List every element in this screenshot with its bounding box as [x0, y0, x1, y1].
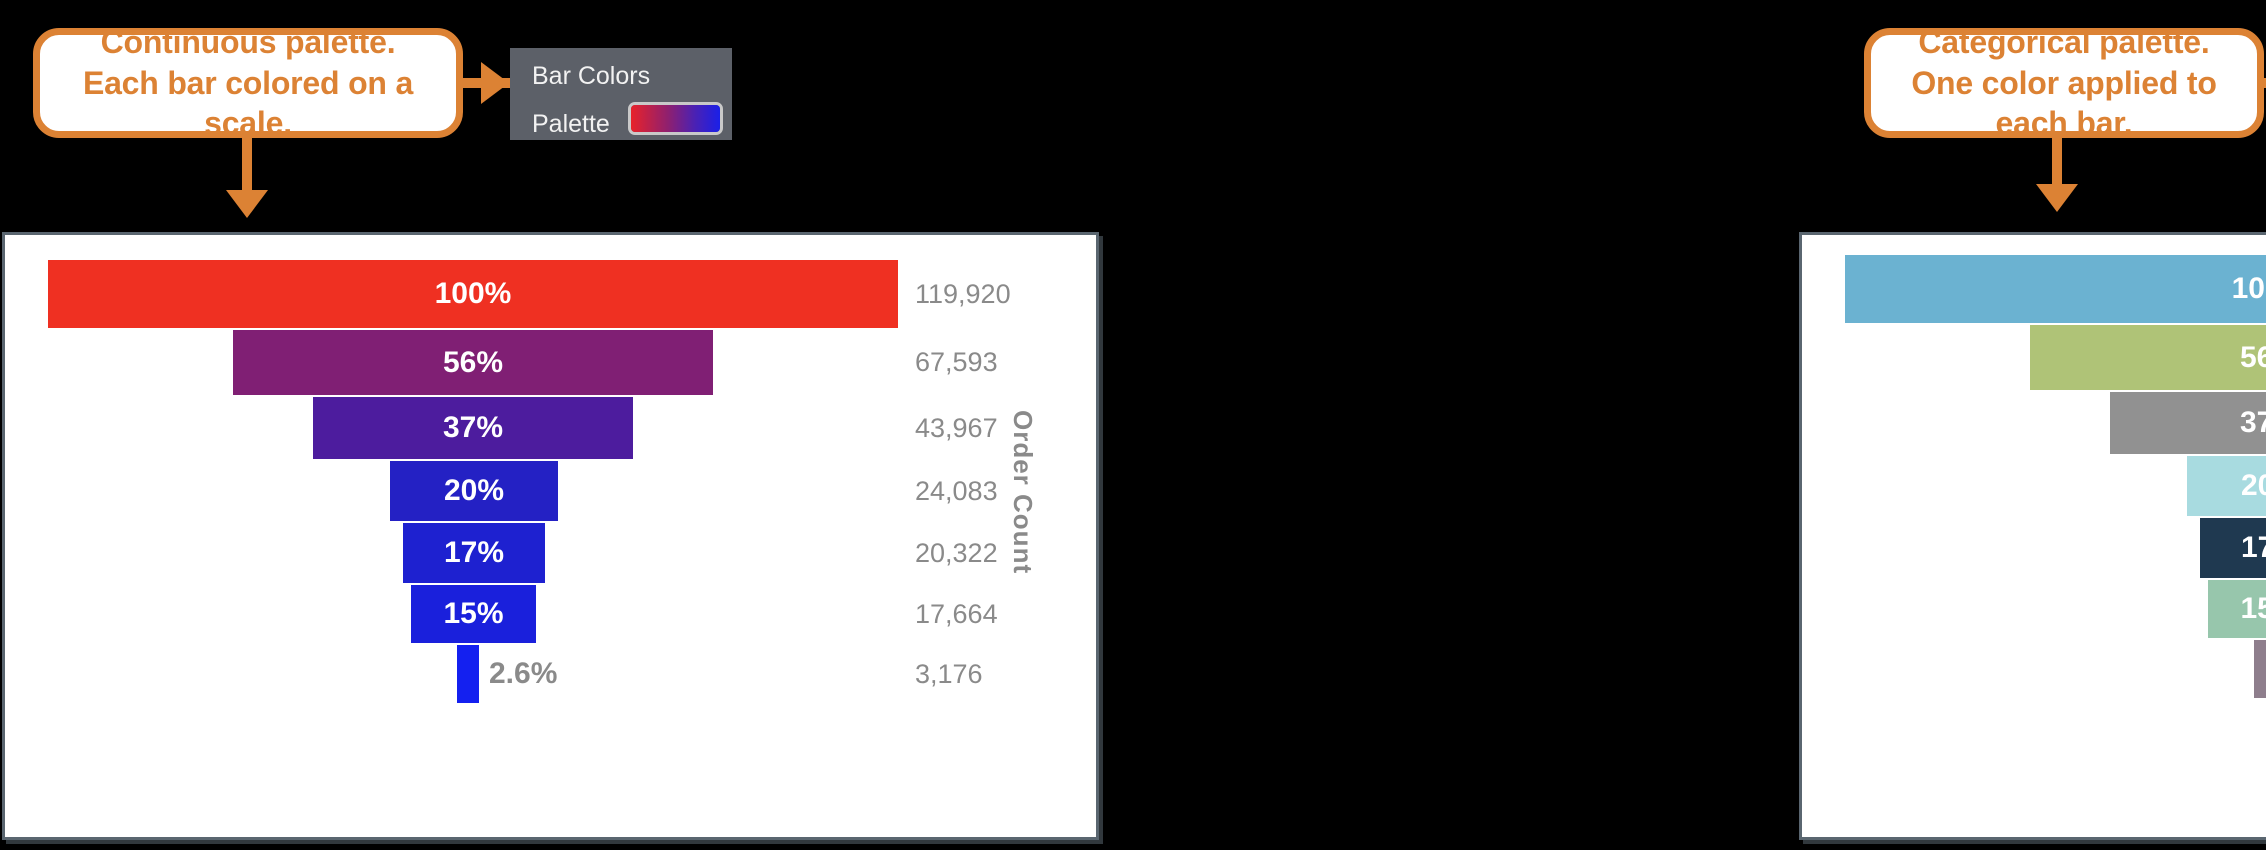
funnel-bar[interactable]: 15% [411, 585, 536, 643]
funnel-bar[interactable]: 17% [403, 523, 545, 583]
funnel-bar[interactable]: 15% [2208, 580, 2266, 638]
funnel-bar[interactable]: 56% [2030, 325, 2266, 390]
bar-row: 17% 20,322 [1802, 518, 2266, 578]
funnel-bar[interactable]: 37% [2110, 392, 2266, 454]
bar-row: 37% 43,967 [5, 397, 1096, 459]
bar-percent-label: 37% [2240, 406, 2266, 440]
right-funnel-chart: 100% 119,920 56% 67,593 37% 43,967 20% [1802, 235, 2266, 837]
right-callout-bubble: Categorical palette. One color applied t… [1864, 28, 2264, 138]
right-down-connector-stem [2052, 138, 2062, 190]
bar-row: 100% 119,920 [1802, 255, 2266, 323]
bar-row: 37% 43,967 [1802, 392, 2266, 454]
continuous-gradient-swatch [631, 105, 720, 132]
bar-percent-label: 100% [2232, 272, 2266, 306]
bar-percent-label: 37% [443, 411, 503, 445]
bar-percent-label: 20% [444, 474, 504, 508]
bar-percent-label: 100% [435, 277, 512, 311]
left-connector-arrowhead [481, 62, 509, 104]
bar-row: 56% 67,593 [1802, 325, 2266, 390]
left-panel-title: Bar Colors [532, 62, 650, 91]
funnel-bar[interactable]: 100% [1845, 255, 2266, 323]
bar-count-label: 3,176 [915, 659, 983, 690]
bar-percent-label: 2.6% [489, 657, 557, 691]
left-callout-bubble: Continuous palette. Each bar colored on … [33, 28, 463, 138]
bar-percent-label: 17% [2241, 531, 2266, 565]
bar-row: 15% 17,664 [1802, 580, 2266, 638]
bar-percent-label: 56% [2240, 341, 2266, 375]
left-callout-text: Continuous palette. Each bar colored on … [60, 22, 436, 145]
funnel-bar[interactable]: 56% [233, 330, 713, 395]
bar-row: 17% 20,322 [5, 523, 1096, 583]
bar-count-label: 20,322 [915, 538, 998, 569]
funnel-bar[interactable]: 2.6% [457, 645, 479, 703]
left-chart-card: 100% 119,920 56% 67,593 37% 43,967 20% [2, 232, 1099, 840]
funnel-bar[interactable]: 100% [48, 260, 898, 328]
left-down-connector-stem [242, 138, 252, 196]
bar-percent-label: 15% [2240, 592, 2266, 626]
funnel-bar[interactable]: 2.6% [2254, 640, 2266, 698]
bar-row: 20% 24,083 [5, 461, 1096, 521]
left-panel-group: Continuous palette. Each bar colored on … [0, 0, 1133, 850]
left-axis-title: Order Count [1007, 410, 1038, 574]
funnel-bar[interactable]: 37% [313, 397, 633, 459]
bar-row: 20% 24,083 [1802, 456, 2266, 516]
left-palette-swatch[interactable] [628, 102, 723, 135]
left-palette-label: Palette [532, 110, 610, 139]
bar-count-label: 17,664 [915, 599, 998, 630]
right-callout-text: Categorical palette. One color applied t… [1891, 22, 2237, 145]
bar-percent-label: 56% [443, 346, 503, 380]
funnel-bar[interactable]: 20% [2187, 456, 2266, 516]
bar-count-label: 43,967 [915, 413, 998, 444]
bar-count-label: 119,920 [915, 279, 1011, 310]
right-panel-group: Categorical palette. One color applied t… [1133, 0, 2266, 850]
left-down-connector-arrowhead [226, 190, 268, 218]
funnel-bar[interactable]: 20% [390, 461, 558, 521]
bar-row: 2.6% 3,176 [1802, 640, 2266, 698]
right-chart-card: 100% 119,920 56% 67,593 37% 43,967 20% [1799, 232, 2266, 840]
left-bar-colors-panel: Bar Colors Palette [510, 48, 732, 140]
bar-count-label: 24,083 [915, 476, 998, 507]
right-down-connector-arrowhead [2036, 184, 2078, 212]
bar-row: 100% 119,920 [5, 260, 1096, 328]
bar-row: 2.6% 3,176 [5, 645, 1096, 703]
funnel-bar[interactable]: 17% [2200, 518, 2266, 578]
bar-row: 56% 67,593 [5, 330, 1096, 395]
bar-count-label: 67,593 [915, 347, 998, 378]
bar-percent-label: 15% [443, 597, 503, 631]
bar-percent-label: 17% [444, 536, 504, 570]
bar-row: 15% 17,664 [5, 585, 1096, 643]
left-funnel-chart: 100% 119,920 56% 67,593 37% 43,967 20% [5, 235, 1096, 837]
bar-percent-label: 20% [2241, 469, 2266, 503]
